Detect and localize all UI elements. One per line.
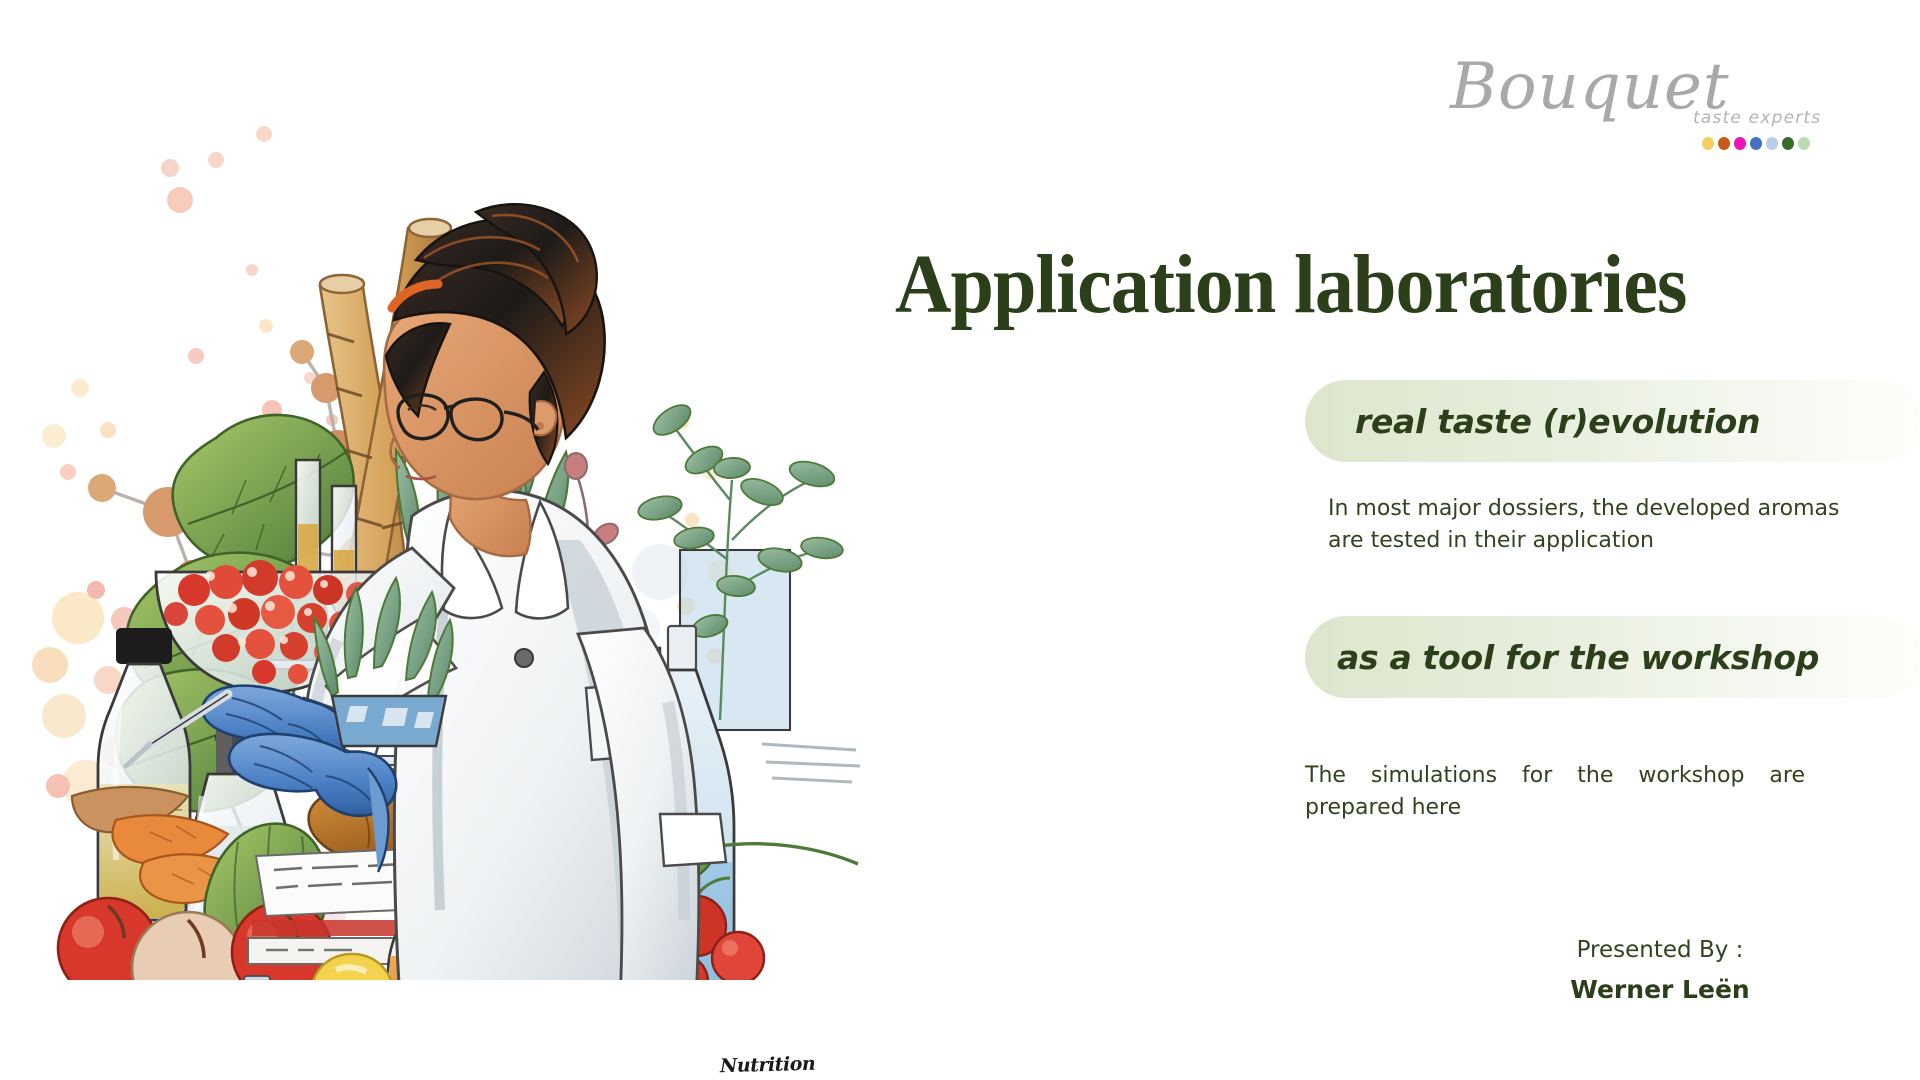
presented-by-label: Presented By :: [1500, 937, 1820, 963]
presenter-name: Werner Leën: [1500, 975, 1820, 1004]
brand-color-dot-5: [1766, 137, 1778, 150]
section-heading-pill-2: as a tool for the workshop: [1305, 616, 1920, 698]
lab-scientist-illustration: Nutrition: [20, 120, 880, 980]
brand-name: Bouquet: [1450, 55, 1730, 119]
section-heading-pill-1: real taste (r)evolution: [1305, 380, 1920, 462]
section-body-2: The simulations for the workshop are pre…: [1305, 760, 1805, 824]
brand-tagline: taste experts: [1693, 108, 1821, 128]
brand-color-dot-6: [1782, 137, 1794, 150]
mini-amber-bottle: [244, 976, 270, 980]
section-heading-label-1: real taste (r)evolution: [1355, 402, 1760, 441]
brand-color-dots: [1702, 137, 1810, 150]
brand-logo: Bouquet taste experts: [1450, 55, 1870, 155]
section-heading-label-2: as a tool for the workshop: [1337, 638, 1819, 677]
brand-color-dot-7: [1798, 137, 1810, 150]
brand-color-dot-4: [1750, 137, 1762, 150]
brand-color-dot-2: [1718, 137, 1730, 150]
section-body-1: In most major dossiers, the developed ar…: [1328, 493, 1868, 557]
illustration-signature: Nutrition: [720, 1053, 816, 1077]
brand-color-dot-3: [1734, 137, 1746, 150]
slide-canvas: Bouquet taste experts Application labora…: [0, 0, 1920, 1080]
brand-color-dot-1: [1702, 137, 1714, 150]
page-title: Application laboratories: [895, 243, 1686, 327]
